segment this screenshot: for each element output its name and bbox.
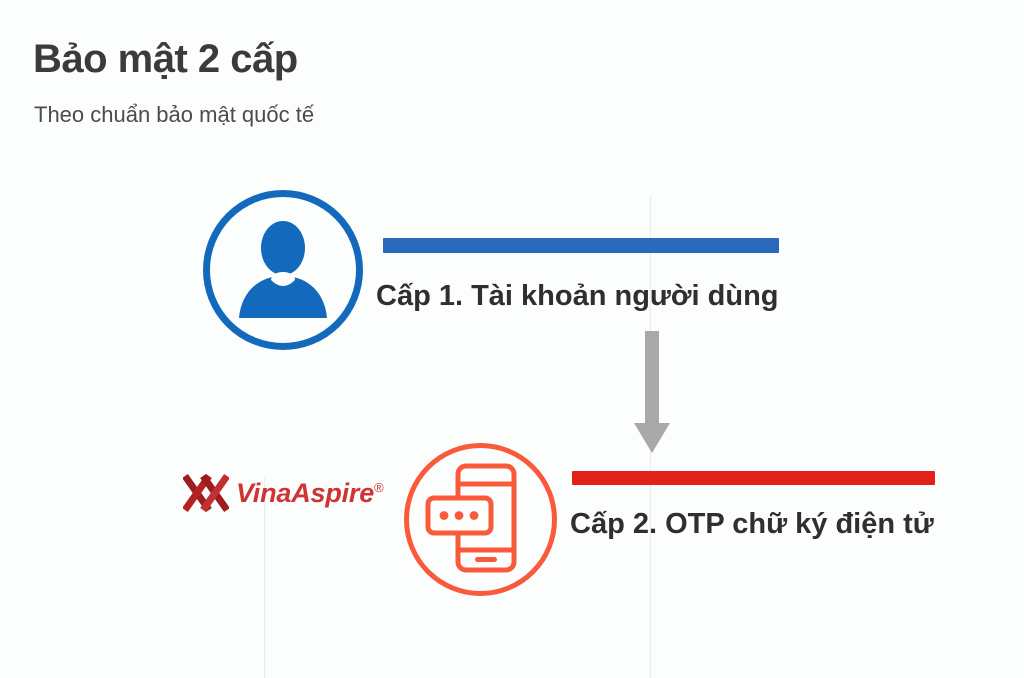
step-2-accent-bar <box>572 471 935 485</box>
vinaaspire-logo-text: VinaAspire® <box>236 478 383 509</box>
vinaaspire-logo: VinaAspire® <box>183 472 383 514</box>
infographic-canvas: Bảo mật 2 cấp Theo chuẩn bảo mật quốc tế… <box>0 0 1024 678</box>
page-title: Bảo mật 2 cấp <box>33 36 298 82</box>
user-avatar-icon <box>231 218 335 322</box>
step-1-accent-bar <box>383 238 779 253</box>
step-2-label: Cấp 2. OTP chữ ký điện tử <box>570 509 934 541</box>
logo-name: VinaAspire <box>236 478 374 508</box>
vinaaspire-x-mark-icon <box>183 474 229 512</box>
step-1-label: Cấp 1. Tài khoản người dùng <box>376 281 779 313</box>
page-subtitle: Theo chuẩn bảo mật quốc tế <box>34 102 314 128</box>
registered-mark: ® <box>374 480 383 495</box>
mobile-otp-icon <box>425 462 537 574</box>
down-arrow-icon <box>632 331 672 456</box>
